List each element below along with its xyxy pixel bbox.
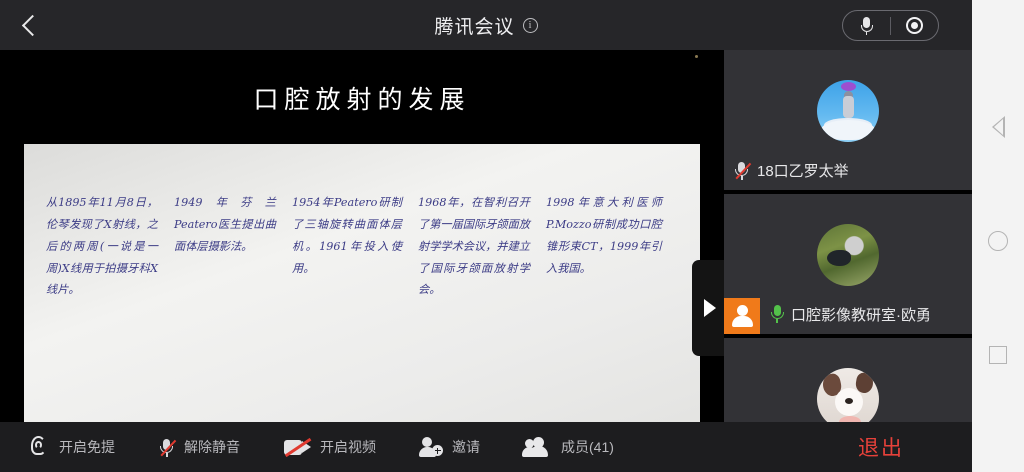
participant-name: 口腔影像教研室·欧勇 bbox=[791, 304, 931, 325]
ear-speaker-icon bbox=[28, 436, 50, 458]
dog-avatar bbox=[817, 368, 879, 422]
members-label: 成员(41) bbox=[561, 437, 614, 457]
microphone-muted-icon bbox=[734, 161, 750, 180]
participant-name: 18口乙罗太举 bbox=[757, 160, 849, 181]
pet-grass-avatar bbox=[817, 224, 879, 286]
participant-tile[interactable]: 口腔影像教研室·欧勇 bbox=[724, 194, 972, 334]
record-icon bbox=[906, 17, 923, 34]
participant-list[interactable]: 18口乙罗太举 口腔影像教研室·欧勇 bbox=[724, 50, 972, 422]
slide-column: 从1895年11月8日，伦琴发现了X射线，之后的两周(一说是一周)X线用于拍摄牙… bbox=[38, 192, 166, 301]
title-group: 腾讯会议 i bbox=[0, 0, 972, 50]
exit-button[interactable]: 退出 bbox=[858, 432, 904, 462]
shared-screen-stage[interactable]: 口腔放射的发展 从1895年11月8日，伦琴发现了X射线，之后的两周(一说是一周… bbox=[0, 50, 724, 422]
video-label: 开启视频 bbox=[320, 437, 376, 457]
mic-label: 解除静音 bbox=[184, 437, 240, 457]
decorative-dot bbox=[695, 55, 698, 58]
people-icon bbox=[524, 437, 552, 457]
record-button[interactable] bbox=[891, 11, 938, 40]
astronaut-avatar bbox=[817, 80, 879, 142]
participant-name-row: 口腔影像教研室·欧勇 bbox=[770, 304, 931, 325]
speaker-label: 开启免提 bbox=[59, 437, 115, 457]
avatar bbox=[817, 80, 879, 142]
unmute-button[interactable]: 解除静音 bbox=[159, 437, 240, 457]
top-bar: 腾讯会议 i bbox=[0, 0, 972, 50]
participant-name-row: 18口乙罗太举 bbox=[734, 160, 849, 181]
participant-tile[interactable]: 18口乙罗太举 bbox=[724, 50, 972, 190]
avatar bbox=[817, 224, 879, 286]
avatar bbox=[817, 368, 879, 422]
android-nav-bar bbox=[972, 0, 1024, 472]
host-badge bbox=[724, 298, 760, 334]
person-add-icon bbox=[420, 437, 443, 457]
chevron-left-icon bbox=[22, 14, 43, 35]
microphone-muted-icon bbox=[159, 438, 175, 457]
invite-button[interactable]: 邀请 bbox=[420, 437, 480, 457]
video-button[interactable]: 开启视频 bbox=[284, 437, 376, 457]
nav-back-triangle-icon[interactable] bbox=[987, 116, 1009, 138]
slide-column: 1954年Peatero研制了三轴旋转曲面体层机。1961年投入使用。 bbox=[284, 192, 410, 301]
slide-column: 1998年意大利医师P.Mozzo研制成功口腔锥形束CT，1999年引入我国。 bbox=[538, 192, 670, 301]
expand-panel-handle[interactable] bbox=[692, 260, 724, 356]
microphone-on-icon bbox=[770, 305, 784, 324]
speaker-button[interactable]: 开启免提 bbox=[28, 436, 115, 458]
slide-body: 从1895年11月8日，伦琴发现了X射线，之后的两周(一说是一周)X线用于拍摄牙… bbox=[24, 144, 700, 422]
page-title: 腾讯会议 bbox=[434, 12, 514, 39]
mic-toggle-button[interactable] bbox=[843, 11, 890, 40]
members-button[interactable]: 成员(41) bbox=[524, 437, 614, 457]
slide-column: 1949年芬兰Peatero医生提出曲面体层摄影法。 bbox=[166, 192, 284, 301]
mic-record-pill bbox=[842, 10, 939, 41]
back-button[interactable] bbox=[0, 0, 60, 50]
nav-home-circle-icon[interactable] bbox=[987, 230, 1009, 252]
nav-recents-square-icon[interactable] bbox=[987, 344, 1009, 366]
slide-title: 口腔放射的发展 bbox=[0, 80, 724, 116]
camera-off-icon bbox=[284, 438, 311, 457]
meeting-screen: 腾讯会议 i 口腔放射的发展 从1895年11月8日，伦琴发现了X射线，之后的两… bbox=[0, 0, 1024, 472]
invite-label: 邀请 bbox=[452, 437, 480, 457]
info-icon[interactable]: i bbox=[523, 18, 538, 33]
participant-tile[interactable] bbox=[724, 338, 972, 422]
play-triangle-icon bbox=[704, 299, 716, 317]
bottom-toolbar: 开启免提 解除静音 开启视频 邀请 成员(41) bbox=[0, 422, 972, 472]
slide-column: 1968年，在智利召开了第一届国际牙颌面放射学学术会议，并建立了国际牙颌面放射学… bbox=[410, 192, 538, 301]
microphone-icon bbox=[862, 17, 871, 35]
slide-columns: 从1895年11月8日，伦琴发现了X射线，之后的两周(一说是一周)X线用于拍摄牙… bbox=[24, 144, 700, 301]
